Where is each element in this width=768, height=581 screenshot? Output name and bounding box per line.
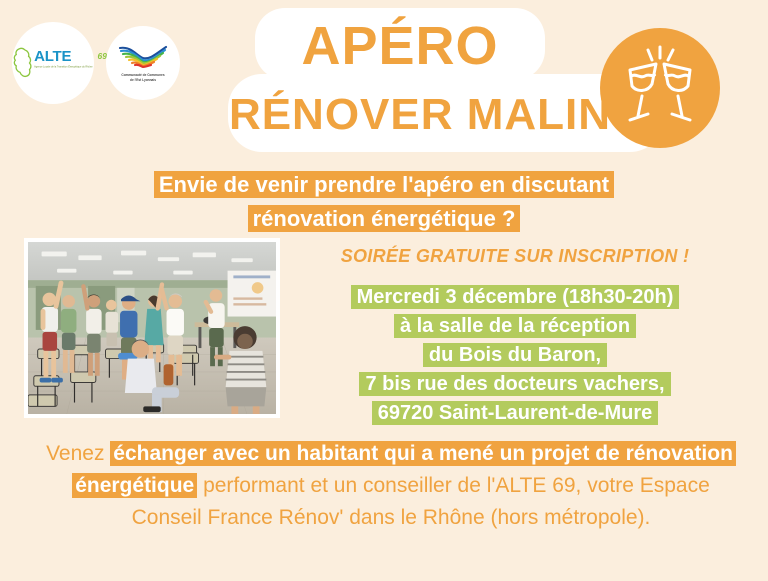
event-detail-line: du Bois du Baron, — [423, 343, 607, 367]
subtitle-block: Envie de venir prendre l'apéro en discut… — [0, 170, 768, 238]
body-text-start: Venez — [46, 442, 110, 465]
alte-logo-tagline: Agence Locale de la Transition Énergétiq… — [35, 66, 93, 70]
event-detail-line: à la salle de la réception — [394, 314, 636, 338]
body-text-end: performant et un conseiller de l'ALTE 69… — [132, 474, 710, 529]
workshop-meeting-room-photo — [24, 238, 280, 418]
logo-alte-69: ALTE 69 Agence Locale de la Transition É… — [12, 22, 94, 104]
event-detail-line: Mercredi 3 décembre (18h30-20h) — [351, 285, 680, 309]
body-paragraph: Venez échanger avec un habitant qui a me… — [46, 438, 736, 534]
free-entry-note: SOIRÉE GRATUITE SUR INSCRIPTION ! — [300, 246, 730, 267]
ccel-logo-line2: de l'Est Lyonnais — [121, 78, 164, 83]
logo-communaute-communes-est-lyonnais: Communauté de Communes de l'Est Lyonnais — [106, 26, 180, 100]
page-title-line2: RÉNOVER MALIN — [200, 92, 640, 138]
event-details-block: Mercredi 3 décembre (18h30-20h) à la sal… — [290, 284, 740, 429]
subtitle-line-2: rénovation énergétique ? — [248, 205, 521, 232]
alte-map-outline-icon — [13, 47, 34, 79]
ccel-logo-line1: Communauté de Communes — [121, 73, 164, 78]
subtitle-line-1: Envie de venir prendre l'apéro en discut… — [154, 171, 614, 198]
event-detail-line: 69720 Saint-Laurent-de-Mure — [372, 401, 659, 425]
rainbow-wave-icon — [117, 44, 169, 70]
alte-logo-word: ALTE — [35, 50, 72, 65]
page-title-line1: APÉRO — [255, 18, 545, 74]
photo-illustration — [28, 242, 276, 414]
event-detail-line: 7 bis rue des docteurs vachers, — [359, 372, 670, 396]
